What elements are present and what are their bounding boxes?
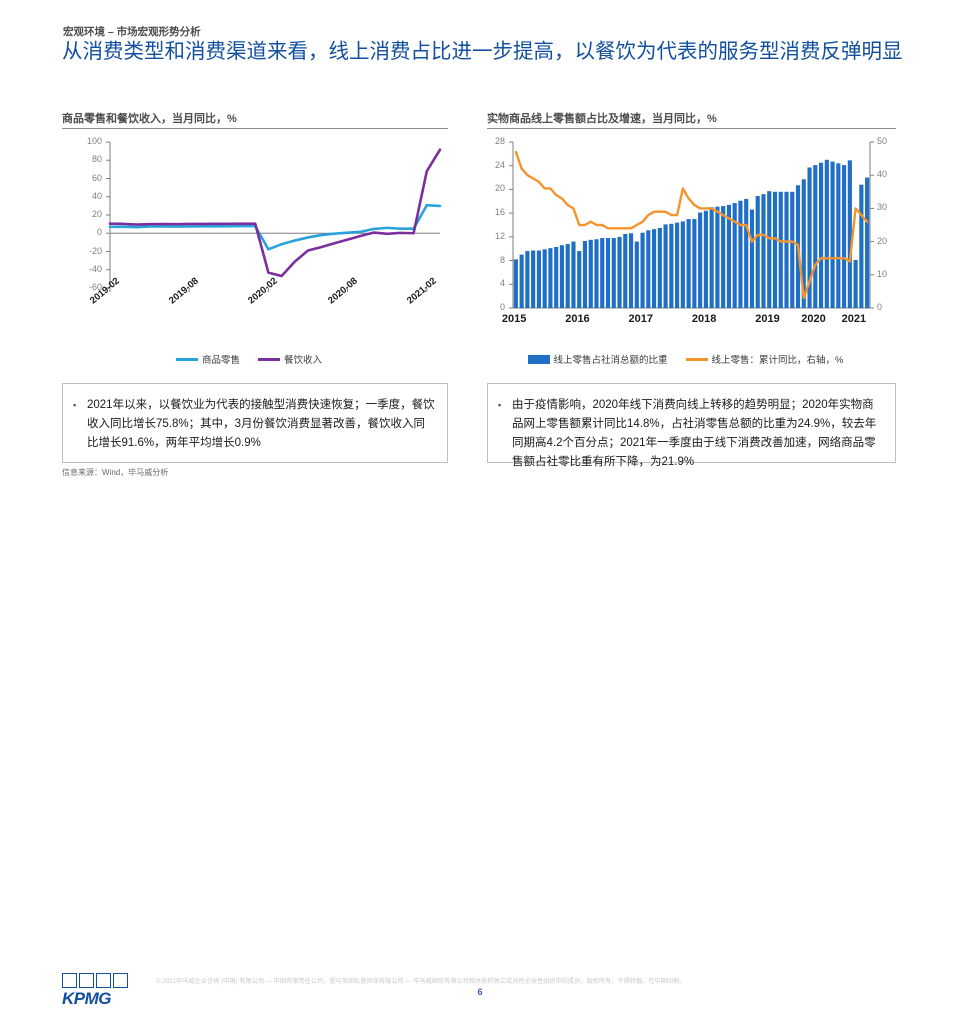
right-chart-right-y-tick-label: 30	[877, 202, 887, 212]
left-chart-y-tick-label: 40	[62, 191, 102, 201]
legend-item[interactable]: 线上零售：累计同比，右轴，%	[686, 352, 844, 366]
slide-footer: KPMG © 2021毕马威企业咨询 (中国) 有限公司 — 中国有限责任公司，…	[0, 484, 960, 540]
left-chart-y-tick-label: 0	[62, 227, 102, 237]
right-panel-title: 实物商品线上零售额占比及增速，当月同比，%	[487, 110, 717, 126]
retail-catering-line-chart: 100806040200-20-40-60 2019-022019-082020…	[62, 136, 448, 336]
legend-line-swatch	[176, 358, 198, 361]
right-chart-x-tick-label: 2021	[842, 313, 866, 325]
left-chart-y-tick-label: -20	[62, 246, 102, 256]
right-chart-x-tick-label: 2016	[565, 313, 589, 325]
left-panel-title: 商品零售和餐饮收入，当月同比，%	[62, 110, 237, 126]
online-retail-share-chart: 2824201612840 50403020100 20152016201720…	[487, 136, 896, 336]
left-chart-y-tick-label: -40	[62, 264, 102, 274]
slide-headline: 从消费类型和消费渠道来看，线上消费占比进一步提高，以餐饮为代表的服务型消费反弹明…	[62, 38, 910, 66]
copyright-text: © 2021毕马威企业咨询 (中国) 有限公司 — 中国有限责任公司，是与英国私…	[156, 977, 916, 986]
right-chart-left-y-tick-label: 4	[487, 278, 505, 288]
right-callout-text: 由于疫情影响，2020年线下消费向线上转移的趋势明显；2020年实物商品网上零售…	[512, 396, 883, 472]
right-chart-right-y-tick-label: 10	[877, 269, 887, 279]
left-callout-box: ▪ 2021年以来，以餐饮业为代表的接触型消费快速恢复；一季度，餐饮收入同比增长…	[62, 383, 448, 463]
right-chart-left-y-tick-label: 8	[487, 255, 505, 265]
left-chart-y-tick-label: 20	[62, 209, 102, 219]
right-chart-x-tick-label: 2019	[755, 313, 779, 325]
left-chart-y-tick-label: 100	[62, 136, 102, 146]
right-chart-right-y-tick-label: 40	[877, 169, 887, 179]
legend-bar-swatch	[528, 355, 550, 364]
right-chart-legend: 线上零售占社消总额的比重线上零售：累计同比，右轴，%	[487, 352, 896, 366]
right-chart-svg	[487, 136, 896, 336]
right-chart-x-tick-label: 2017	[629, 313, 653, 325]
right-chart-left-y-tick-label: 24	[487, 160, 505, 170]
legend-label: 线上零售：累计同比，右轴，%	[712, 352, 844, 366]
right-chart-x-tick-label: 2020	[801, 313, 825, 325]
left-chart-svg	[62, 136, 448, 336]
legend-label: 商品零售	[202, 352, 240, 366]
right-chart-right-y-tick-label: 20	[877, 236, 887, 246]
right-chart-right-y-tick-label: 50	[877, 136, 887, 146]
left-callout-text: 2021年以来，以餐饮业为代表的接触型消费快速恢复；一季度，餐饮收入同比增长75…	[87, 396, 435, 453]
right-callout-box: ▪ 由于疫情影响，2020年线下消费向线上转移的趋势明显；2020年实物商品网上…	[487, 383, 896, 463]
left-chart-legend: 商品零售餐饮收入	[62, 352, 448, 366]
legend-item[interactable]: 餐饮收入	[258, 352, 322, 366]
right-panel-rule	[487, 128, 896, 129]
left-callout-bullet: ▪	[73, 396, 87, 453]
legend-line-swatch	[686, 358, 708, 361]
legend-item[interactable]: 商品零售	[176, 352, 240, 366]
kpmg-logo-caps	[62, 973, 138, 988]
right-chart-x-tick-label: 2015	[502, 313, 526, 325]
left-panel-rule	[62, 128, 448, 129]
legend-label: 线上零售占社消总额的比重	[554, 352, 668, 366]
legend-item[interactable]: 线上零售占社消总额的比重	[528, 352, 668, 366]
right-chart-left-y-tick-label: 28	[487, 136, 505, 146]
right-chart-x-tick-label: 2018	[692, 313, 716, 325]
right-chart-left-y-tick-label: 20	[487, 183, 505, 193]
slide-eyebrow: 宏观环境 – 市场宏观形势分析	[63, 24, 201, 39]
source-note: 信息来源：Wind，毕马威分析	[62, 467, 168, 478]
right-chart-left-y-tick-label: 0	[487, 302, 505, 312]
right-chart-left-y-tick-label: 12	[487, 231, 505, 241]
right-chart-right-y-tick-label: 0	[877, 302, 882, 312]
left-chart-y-tick-label: 80	[62, 154, 102, 164]
legend-label: 餐饮收入	[284, 352, 322, 366]
right-chart-left-y-tick-label: 16	[487, 207, 505, 217]
left-chart-y-tick-label: 60	[62, 173, 102, 183]
slide-root: 宏观环境 – 市场宏观形势分析 从消费类型和消费渠道来看，线上消费占比进一步提高…	[0, 0, 960, 540]
page-number: 6	[0, 987, 960, 997]
right-callout-bullet: ▪	[498, 396, 512, 472]
legend-line-swatch	[258, 358, 280, 361]
